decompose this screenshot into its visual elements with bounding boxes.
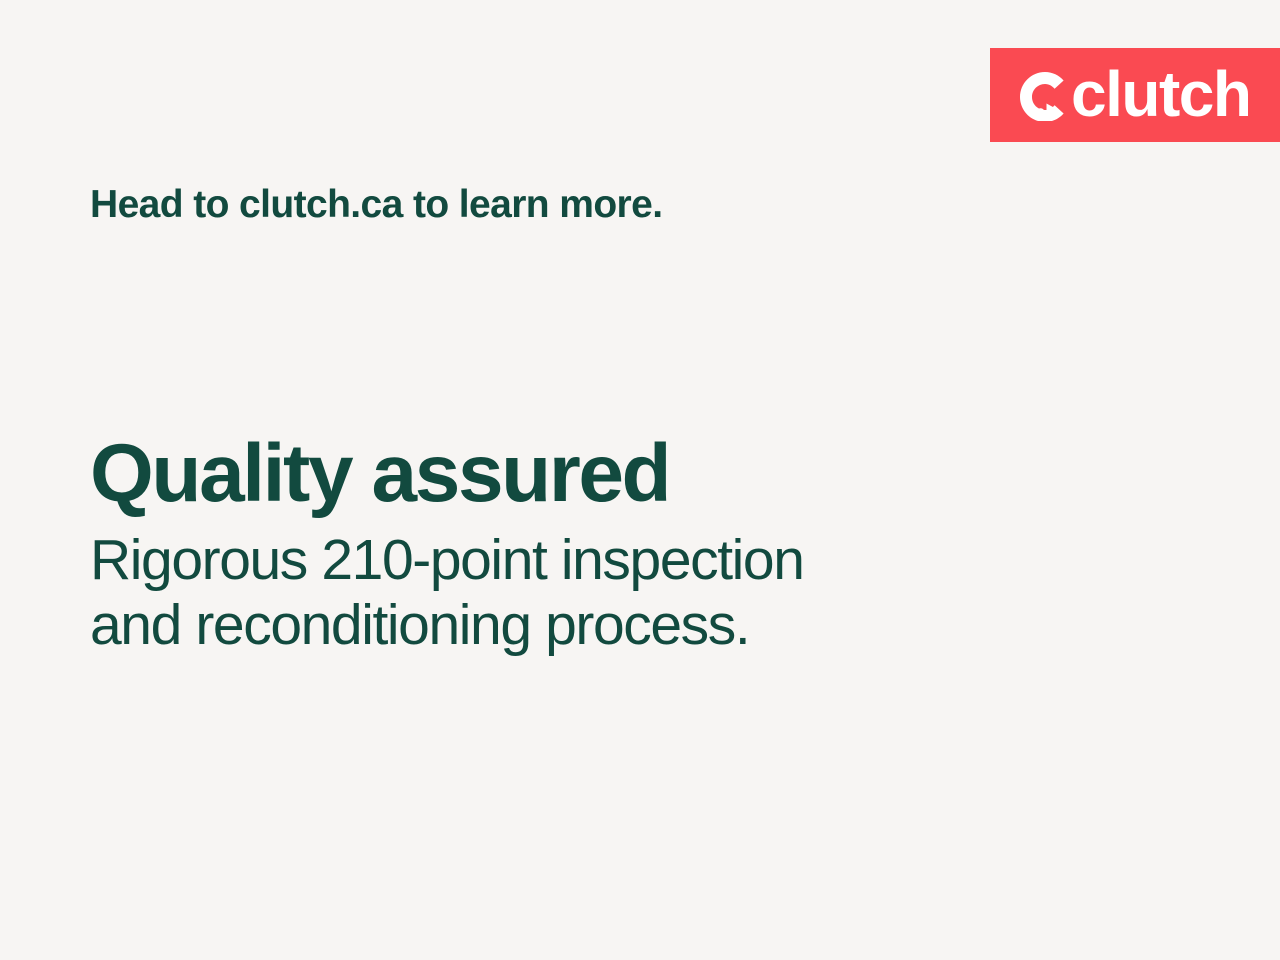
brand-banner: clutch [990, 48, 1280, 142]
kicker-text: Head to clutch.ca to learn more. [90, 183, 662, 228]
brand-lockup: clutch [1019, 63, 1250, 127]
promo-slide: clutch Head to clutch.ca to learn more. … [0, 0, 1280, 960]
headline: Quality assured [90, 432, 990, 516]
clutch-c-mark-icon [1019, 69, 1071, 121]
subcopy-line-2: and reconditioning process. [90, 593, 990, 658]
subcopy: Rigorous 210-point inspection and recond… [90, 528, 990, 658]
brand-wordmark: clutch [1071, 62, 1250, 126]
message-block: Quality assured Rigorous 210-point inspe… [90, 432, 990, 658]
subcopy-line-1: Rigorous 210-point inspection [90, 528, 990, 593]
